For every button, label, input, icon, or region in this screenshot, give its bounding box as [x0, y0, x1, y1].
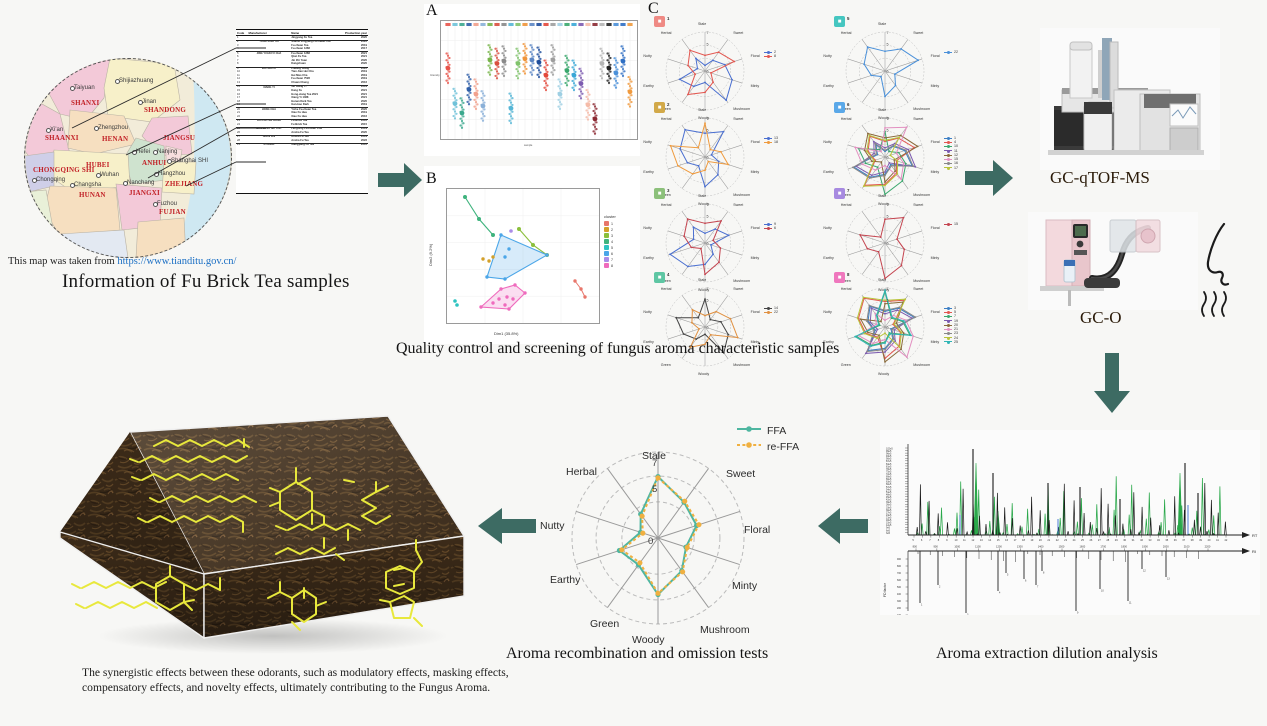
radar-axis-label: Sweet [913, 287, 923, 291]
radar-axis-label: Floral [751, 310, 760, 314]
radar-legend-line [944, 163, 952, 164]
radar-legend-line [764, 312, 772, 313]
svg-text:900: 900 [897, 558, 902, 561]
ffa-radial-tick: 7 [652, 458, 657, 469]
radar-axis-label: Minty [931, 84, 940, 88]
cluster-legend-item[interactable]: 4 [604, 239, 638, 244]
radar-axis-label: Nutty [823, 140, 831, 144]
map-city-label: Shijiazhuang [119, 78, 153, 84]
map-city-label: Hangzhou [158, 171, 185, 177]
map-city-label: Nanchang [127, 180, 154, 186]
svg-text:1600: 1600 [1079, 545, 1085, 549]
radar-legend-item[interactable]: 15 [944, 222, 958, 226]
cluster-label: 8 [611, 264, 613, 268]
radar-series-legend: 28 [764, 50, 776, 58]
radar-cluster-badge: ■ [654, 272, 665, 283]
svg-text:1500: 1500 [1059, 545, 1065, 549]
svg-text:2100: 2100 [1184, 545, 1190, 549]
radar-legend-line [764, 224, 772, 225]
svg-text:0: 0 [707, 156, 709, 160]
radar-series-legend: 15 [944, 222, 958, 226]
radar-axis-label: Herbal [841, 31, 852, 35]
aeda-chromatogram: 102e599e596e593e590e587e584e581e578e575e… [880, 430, 1260, 615]
radar-axis-label: Floral [751, 140, 760, 144]
cluster-swatch [604, 221, 609, 226]
radar-axis-label: Stale [698, 22, 706, 26]
radar-series-legend: 96 [764, 222, 776, 230]
teabrick-svg [58, 410, 478, 660]
svg-text:0: 0 [887, 326, 889, 330]
radar-legend-line [764, 142, 772, 143]
radar-cluster-badge: ■ [654, 16, 665, 27]
sample-table-grid: Code Manufacturer Name Production year 1… [236, 30, 368, 147]
ffa-legend-swatch [736, 440, 762, 453]
radar-axis-label: Mushroom [913, 363, 930, 367]
radar-cluster-badge: ■ [834, 272, 845, 283]
radar-cluster-index: 1 [667, 16, 669, 21]
ffa-radial-tick: 5 [652, 484, 657, 495]
panel-a-xlabel: sample [524, 144, 532, 147]
radar-legend-line [944, 308, 952, 309]
ffa-radial-tick: 0 [648, 536, 653, 547]
map-province-label: SHANXI [71, 99, 99, 107]
radar-axis-label: Herbal [661, 117, 672, 121]
radar-legend-label: 22 [954, 50, 958, 54]
map-city-label: Hefei [136, 149, 150, 155]
radar-axis-label: Nutty [823, 310, 831, 314]
radar-legend-line [944, 325, 952, 326]
map-credit: This map was taken from https://www.tian… [8, 256, 236, 267]
svg-text:5: 5 [707, 214, 709, 218]
ffa-radar-legend: FFAre-FFA [736, 424, 799, 456]
radar-axis-label: Herbal [661, 31, 672, 35]
radar-axis-label: Stale [878, 278, 886, 282]
radar-legend-line [764, 308, 772, 309]
panel-a-svg [441, 21, 637, 139]
radar-axis-label: Stale [878, 22, 886, 26]
panel-b-cluster-plot: B Dim1 (35.8%) Dim2 (9.2%) cluster 12345… [424, 166, 640, 344]
radar-axis-label: Earthy [643, 256, 653, 260]
map-province-label: FUJIAN [159, 208, 186, 216]
radar-legend-line [944, 155, 952, 156]
conclusion-text: The synergistic effects between these od… [82, 665, 512, 696]
aeda-caption: Aroma extraction dilution analysis [936, 645, 1158, 663]
panel-a-letter: A [426, 2, 438, 20]
svg-text:1800: 1800 [1121, 545, 1127, 549]
radar-series-legend: 1422 [764, 306, 778, 314]
map-province-label: ZHEJIANG [165, 180, 203, 188]
cluster-label: 6 [611, 252, 613, 256]
panel-c-radar-grid: C ■1057StaleSweetFloralMintyMushroomWood… [648, 4, 1008, 344]
svg-text:7: 7 [887, 117, 889, 121]
map-city-label: Jinan [142, 99, 156, 105]
arrow-instruments-to-aeda [1094, 353, 1130, 413]
aroma-wave-icon [1198, 290, 1238, 329]
radar-cluster-badge: ■ [834, 102, 845, 113]
radar-axis-label: Sweet [733, 117, 743, 121]
svg-text:0: 0 [887, 70, 889, 74]
svg-text:0: 0 [887, 156, 889, 160]
svg-text:RT: RT [1252, 533, 1258, 538]
radar-axis-label: Floral [751, 54, 760, 58]
svg-text:800: 800 [897, 565, 902, 568]
cluster-swatch [604, 251, 609, 256]
radar-legend-line [764, 52, 772, 53]
map-province-label: SHAANXI [45, 134, 79, 142]
panel-b-plotbox [446, 188, 600, 324]
panel-b-letter: B [426, 170, 437, 188]
radar-legend-line [764, 228, 772, 229]
svg-text:5: 5 [887, 128, 889, 132]
map-city-label: Nanjing [157, 149, 177, 155]
radar-axis-label: Herbal [661, 203, 672, 207]
cluster-label: 5 [611, 246, 613, 250]
panel-a-plotbox [440, 20, 638, 140]
cluster-legend-item[interactable]: 3 [604, 233, 638, 238]
cluster-swatch [604, 245, 609, 250]
ffa-axis-label: Mushroom [700, 624, 750, 636]
radar-axis-label: Floral [931, 310, 940, 314]
radar-cluster-badge: ■ [834, 16, 845, 27]
radar-legend-line [944, 316, 952, 317]
radar-axis-label: Sweet [913, 31, 923, 35]
svg-text:100: 100 [897, 614, 902, 615]
svg-text:2200: 2200 [1205, 545, 1211, 549]
ffa-legend-label: FFA [767, 425, 786, 437]
cluster-swatch [604, 233, 609, 238]
arrow-map-to-quality [378, 163, 422, 197]
svg-text:0: 0 [707, 326, 709, 330]
radar-series-legend: 14101112151617 [944, 136, 958, 170]
radar-legend-item[interactable]: 25 [944, 340, 958, 344]
map-credit-prefix: This map was taken from [8, 256, 117, 267]
radar-cluster-badge: ■ [654, 102, 665, 113]
aeda-svg: 102e599e596e593e590e587e584e581e578e575e… [880, 430, 1260, 615]
radar-axis-label: Minty [751, 170, 760, 174]
svg-text:1100: 1100 [975, 545, 981, 549]
radar-axis-label: Sweet [913, 203, 923, 207]
cluster-legend-item[interactable]: 7 [604, 257, 638, 262]
radar-legend-line [944, 320, 952, 321]
cluster-swatch [604, 263, 609, 268]
radar-axis-label: Minty [751, 84, 760, 88]
svg-text:5: 5 [707, 298, 709, 302]
radar-cluster-index: 2 [667, 102, 669, 107]
ffa-legend-item[interactable]: FFA [736, 424, 799, 437]
radar-legend-label: 18 [774, 140, 778, 144]
cluster-label: 4 [611, 240, 613, 244]
svg-text:600: 600 [897, 579, 902, 582]
radar-cluster-index: 6 [847, 102, 849, 107]
map-province-label: JIANGSU [163, 134, 195, 142]
cluster-legend-item[interactable]: 1 [604, 221, 638, 226]
arrow-recombination-to-brick [478, 508, 536, 544]
radar-legend-label: 17 [954, 166, 958, 170]
svg-text:7: 7 [707, 287, 709, 291]
cluster-legend-item[interactable]: 6 [604, 251, 638, 256]
svg-text:300: 300 [897, 600, 902, 603]
radar-legend-label: 15 [954, 222, 958, 226]
radar-axis-label: Floral [931, 140, 940, 144]
svg-text:200: 200 [897, 607, 902, 610]
radar-cluster-badge: ■ [654, 188, 665, 199]
map-province-label: ANHUI [142, 159, 166, 167]
map-province-label: HENAN [102, 135, 128, 143]
panel-b-cluster-legend: cluster 12345678 [604, 214, 638, 269]
radar-axis-label: Stale [698, 108, 706, 112]
gcms-svg [1040, 28, 1220, 170]
radar-legend-line [944, 329, 952, 330]
cell-code: 29 [236, 143, 248, 147]
ffa-radar-chart: StaleSweetFloralMintyMushroomWoodyGreenE… [540, 428, 840, 643]
svg-text:900: 900 [933, 545, 938, 549]
radar-cluster-index: 3 [667, 188, 669, 193]
svg-text:0: 0 [707, 242, 709, 246]
radar-axis-label: Herbal [841, 203, 852, 207]
radar-axis-label: Stale [698, 194, 706, 198]
radar-axis-label: Sweet [733, 31, 743, 35]
radar-legend-item[interactable]: 17 [944, 166, 958, 170]
cell-name: Xiangyang Fu Tea [290, 143, 344, 147]
radar-axis-label: Earthy [643, 170, 653, 174]
map-city-label: Xi'an [50, 127, 63, 133]
radar-axis-label: Mushroom [733, 363, 750, 367]
radar-axis-label: Woody [878, 372, 889, 376]
svg-text:400: 400 [897, 593, 902, 596]
recombination-caption: Aroma recombination and omission tests [506, 645, 768, 663]
cluster-swatch [604, 257, 609, 262]
svg-text:1400: 1400 [1038, 545, 1044, 549]
radar-axis-label: Nutty [643, 226, 651, 230]
ffa-axis-label: Sweet [726, 468, 755, 480]
radar-axis-label: Nutty [643, 140, 651, 144]
radar-axis-label: Earthy [643, 84, 653, 88]
radar-legend-line [944, 146, 952, 147]
ffa-legend-label: re-FFA [767, 441, 799, 453]
table-body: 1Jingyang Fu Tea20202YONG XING TAIShanxi… [236, 36, 368, 147]
radar-axis-label: Floral [751, 226, 760, 230]
ffa-axis-label: Earthy [550, 574, 580, 586]
svg-text:1900: 1900 [1142, 545, 1148, 549]
radar-axis-label: Nutty [643, 310, 651, 314]
cluster-label: 1 [611, 222, 613, 226]
fu-brick-tea-illustration [58, 410, 478, 660]
radar-legend-label: 25 [954, 340, 958, 344]
radar-cluster-index: 8 [847, 272, 849, 277]
radar-axis-label: Herbal [661, 287, 672, 291]
radar-legend-line [944, 138, 952, 139]
svg-text:RI: RI [1252, 549, 1256, 554]
map-city-label: Chongqing [36, 177, 65, 183]
map-province-label: CHONGQING SHI [33, 166, 95, 174]
ffa-legend-swatch [736, 424, 762, 437]
gcms-label: GC-qTOF-MS [1050, 168, 1150, 188]
svg-text:3e5: 3e5 [886, 532, 891, 535]
svg-text:7: 7 [707, 31, 709, 35]
radar-legend-line [944, 333, 952, 334]
gco-instrument-photo [1028, 212, 1198, 310]
radar-legend-item[interactable]: 22 [944, 50, 958, 54]
ffa-axis-label: Floral [744, 524, 770, 536]
svg-text:5: 5 [887, 42, 889, 46]
radar-axis-label: Earthy [823, 84, 833, 88]
radar-cluster-badge: ■ [834, 188, 845, 199]
radar-chart-cell: ■4057StaleSweetFloralMintyMushroomWoodyG… [654, 272, 758, 376]
svg-text:1200: 1200 [996, 545, 1002, 549]
panel-a-ylabel: Intensity [430, 74, 440, 77]
panel-b-xlabel: Dim1 (35.8%) [494, 331, 518, 336]
radar-legend-line [944, 142, 952, 143]
map-city-label: Taiyuan [74, 85, 95, 91]
radar-axis-label: Floral [931, 226, 940, 230]
radar-series-legend: 22 [944, 50, 958, 54]
map-city-label: Changsha [74, 182, 101, 188]
radar-legend-label: 22 [774, 310, 778, 314]
cluster-label: 7 [611, 258, 613, 262]
radar-axis-label: Sweet [733, 203, 743, 207]
ffa-axis-label: Herbal [566, 466, 597, 478]
svg-text:1700: 1700 [1100, 545, 1106, 549]
radar-axis-label: Green [661, 363, 671, 367]
radar-legend-line [944, 224, 952, 225]
cluster-swatch [604, 239, 609, 244]
ffa-legend-item[interactable]: re-FFA [736, 440, 799, 453]
radar-axis-label: Floral [931, 54, 940, 58]
radar-axis-label: Minty [931, 170, 940, 174]
ffa-axis-label: Nutty [540, 520, 565, 532]
radar-axis-label: Woody [698, 372, 709, 376]
map-province-label: HUNAN [79, 191, 106, 199]
svg-text:7: 7 [707, 117, 709, 121]
svg-text:7: 7 [887, 203, 889, 207]
radar-legend-line [944, 312, 952, 313]
svg-text:7: 7 [887, 287, 889, 291]
radar-axis-label: Sweet [733, 287, 743, 291]
radar-legend-line [764, 138, 772, 139]
radar-axis-label: Green [841, 363, 851, 367]
gco-svg [1028, 212, 1198, 310]
map-credit-link[interactable]: https://www.tianditu.gov.cn/ [117, 256, 236, 267]
nose-icon [1196, 220, 1252, 301]
cluster-swatch [604, 227, 609, 232]
map-city-label: Wuhan [100, 172, 119, 178]
cell-manufacturer: JI XIANG [248, 143, 291, 147]
radar-legend-item[interactable]: 18 [764, 140, 778, 144]
radar-axis-label: Sweet [913, 117, 923, 121]
radar-legend-item[interactable]: 6 [764, 226, 776, 230]
svg-text:5: 5 [887, 298, 889, 302]
radar-legend-item[interactable]: 8 [764, 54, 776, 58]
panel-a-dotplot: A Intensity sample [424, 4, 640, 156]
svg-text:0: 0 [707, 70, 709, 74]
china-map-globe: TaiyuanShijiazhuangJinanXi'anZhengzhouHe… [24, 58, 232, 258]
radar-legend-item[interactable]: 22 [764, 310, 778, 314]
radar-axis-label: Herbal [841, 287, 852, 291]
radar-axis-label: Minty [931, 340, 940, 344]
radar-axis-label: Nutty [643, 54, 651, 58]
svg-text:1000: 1000 [954, 545, 960, 549]
radar-axis-label: Earthy [823, 256, 833, 260]
radar-axis-label: Earthy [823, 170, 833, 174]
svg-text:5: 5 [707, 128, 709, 132]
radar-axis-label: Herbal [841, 117, 852, 121]
svg-text:2000: 2000 [1163, 545, 1169, 549]
svg-text:0: 0 [887, 242, 889, 246]
radar-series-legend: 1318 [764, 136, 778, 144]
cluster-legend-rows: 12345678 [604, 221, 638, 268]
radar-cluster-index: 5 [847, 16, 849, 21]
radar-legend-line [944, 52, 952, 53]
gco-label: GC-O [1080, 308, 1122, 328]
radar-chart-cell: ■8057StaleSweetFloralMintyMushroomWoodyG… [834, 272, 938, 376]
radar-legend-label: 8 [774, 54, 776, 58]
radar-legend-line [944, 341, 952, 342]
radar-legend-line [944, 150, 952, 151]
gcms-instrument-photo [1040, 28, 1220, 170]
radar-axis-label: Minty [931, 256, 940, 260]
cluster-legend-item[interactable]: 2 [604, 227, 638, 232]
radar-cluster-index: 7 [847, 188, 849, 193]
svg-text:5: 5 [707, 42, 709, 46]
svg-text:500: 500 [897, 586, 902, 589]
radar-axis-label: Stale [878, 108, 886, 112]
radar-legend-line [944, 167, 952, 168]
sample-info-table: Code Manufacturer Name Production year 1… [236, 29, 368, 194]
radar-axis-label: Nutty [823, 226, 831, 230]
ffa-axis-label: Green [590, 618, 619, 630]
radar-series-legend: 357192021232425 [944, 306, 958, 344]
cell-year: 2016 [344, 143, 368, 147]
svg-text:800: 800 [913, 545, 918, 549]
map-province-label: JIANGXI [129, 189, 160, 197]
radar-axis-label: Nutty [823, 54, 831, 58]
radar-legend-line [944, 337, 952, 338]
radar-axis-label: Stale [698, 278, 706, 282]
cluster-label: 3 [611, 234, 613, 238]
svg-text:1300: 1300 [1017, 545, 1023, 549]
radar-axis-label: Minty [751, 256, 760, 260]
radar-legend-line [944, 159, 952, 160]
map-city-label: Shanghai SHI [171, 158, 208, 164]
panel-b-svg [447, 189, 599, 323]
svg-text:7: 7 [887, 31, 889, 35]
cluster-label: 2 [611, 228, 613, 232]
cluster-legend-title: cluster [604, 214, 638, 219]
cluster-legend-item[interactable]: 5 [604, 245, 638, 250]
svg-text:700: 700 [897, 572, 902, 575]
map-province-label: SHANDONG [144, 106, 186, 114]
svg-text:5: 5 [887, 214, 889, 218]
cluster-legend-item[interactable]: 8 [604, 263, 638, 268]
radar-legend-line [764, 56, 772, 57]
radar-axis-label: Stale [878, 194, 886, 198]
svg-text:FD factor: FD factor [883, 582, 887, 597]
radar-legend-label: 6 [774, 226, 776, 230]
ffa-axis-label: Minty [732, 580, 757, 592]
svg-text:7: 7 [707, 203, 709, 207]
map-city-label: Zhengzhou [98, 125, 128, 131]
panel-b-ylabel: Dim2 (9.2%) [428, 244, 433, 266]
map-caption: Information of Fu Brick Tea samples [62, 271, 350, 293]
quality-caption: Quality control and screening of fungus … [396, 340, 839, 358]
map-city-label: Fuzhou [157, 201, 177, 207]
table-row: 29JI XIANGXiangyang Fu Tea2016 [236, 143, 368, 147]
radar-cluster-index: 4 [667, 272, 669, 277]
